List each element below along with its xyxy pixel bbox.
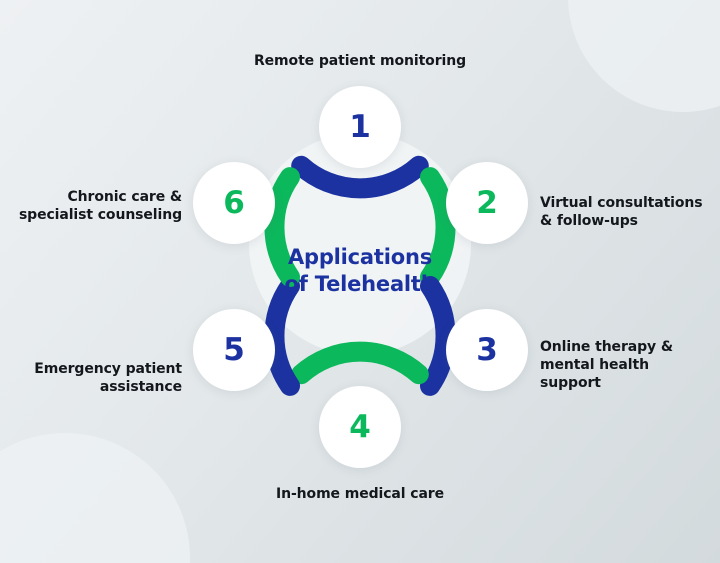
arc-segment-4 xyxy=(301,352,419,375)
node-label-5: Emergency patient assistance xyxy=(8,360,182,396)
node-number-4: 4 xyxy=(349,412,371,443)
node-label-5-line-2: assistance xyxy=(8,378,182,396)
node-label-5-line-1: Emergency patient xyxy=(8,360,182,378)
node-label-2: Virtual consultations & follow-ups xyxy=(540,194,716,230)
node-circle-5[interactable]: 5 xyxy=(193,309,275,391)
node-circle-3[interactable]: 3 xyxy=(446,309,528,391)
node-label-6: Chronic care & specialist counseling xyxy=(8,188,182,224)
node-label-6-line-1: Chronic care & xyxy=(8,188,182,206)
node-circle-2[interactable]: 2 xyxy=(446,162,528,244)
arc-segment-1 xyxy=(301,166,419,189)
node-label-1: Remote patient monitoring xyxy=(210,52,510,70)
telehealth-applications-infographic: Applications of Telehealth 1 2 3 4 5 6 R… xyxy=(0,0,720,563)
node-label-6-line-2: specialist counseling xyxy=(8,206,182,224)
node-circle-4[interactable]: 4 xyxy=(319,386,401,468)
arc-segment-3 xyxy=(430,286,446,386)
node-label-3-line-3: support xyxy=(540,374,716,392)
node-label-2-line-2: & follow-ups xyxy=(540,212,716,230)
node-label-3-line-2: mental health xyxy=(540,356,716,374)
arc-segment-5 xyxy=(274,286,290,386)
node-circle-6[interactable]: 6 xyxy=(193,162,275,244)
node-circle-1[interactable]: 1 xyxy=(319,86,401,168)
node-number-5: 5 xyxy=(223,335,245,366)
node-label-1-line-1: Remote patient monitoring xyxy=(254,53,466,69)
node-number-3: 3 xyxy=(476,335,498,366)
node-label-4-line-1: In-home medical care xyxy=(276,486,444,502)
node-label-3: Online therapy & mental health support xyxy=(540,338,716,393)
node-number-2: 2 xyxy=(476,188,498,219)
center-title-line-1: Applications xyxy=(260,244,460,271)
node-label-2-line-1: Virtual consultations xyxy=(540,194,716,212)
node-number-6: 6 xyxy=(223,188,245,219)
node-label-4: In-home medical care xyxy=(210,485,510,503)
center-title: Applications of Telehealth xyxy=(260,244,460,298)
node-number-1: 1 xyxy=(349,112,371,143)
node-label-3-line-1: Online therapy & xyxy=(540,338,716,356)
center-title-line-2: of Telehealth xyxy=(260,271,460,298)
